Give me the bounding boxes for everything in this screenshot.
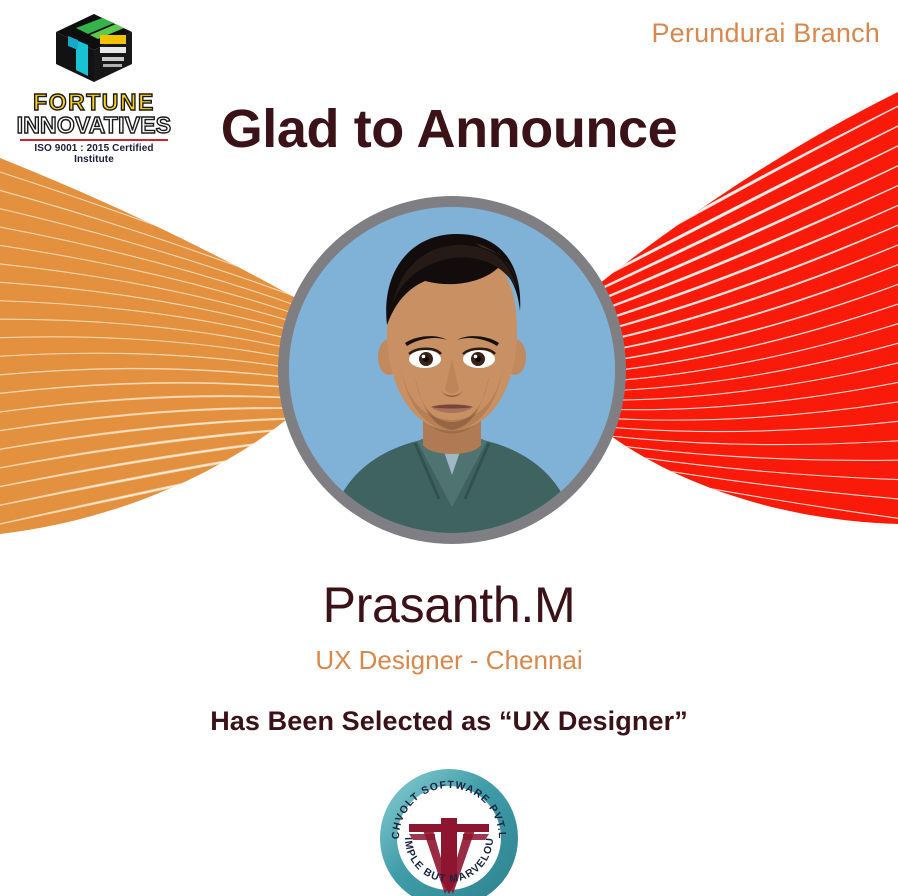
branch-label: Perundurai Branch	[651, 18, 880, 49]
fan-stripe	[0, 455, 360, 564]
selection-statement: Has Been Selected as “UX Designer”	[0, 706, 898, 737]
company-logo: TECHVOLT SOFTWARE PVT.LTD SIMPLE BUT MAR…	[379, 768, 519, 896]
candidate-photo-frame	[278, 196, 626, 544]
candidate-role: UX Designer - Chennai	[0, 645, 898, 676]
institute-cube-icon	[14, 6, 174, 90]
candidate-photo	[289, 207, 615, 533]
candidate-name: Prasanth.M	[0, 576, 898, 634]
page-title: Glad to Announce	[0, 98, 898, 160]
announcement-poster: FORTUNE INNOVATIVES ISO 9001 : 2015 Cert…	[0, 0, 898, 896]
